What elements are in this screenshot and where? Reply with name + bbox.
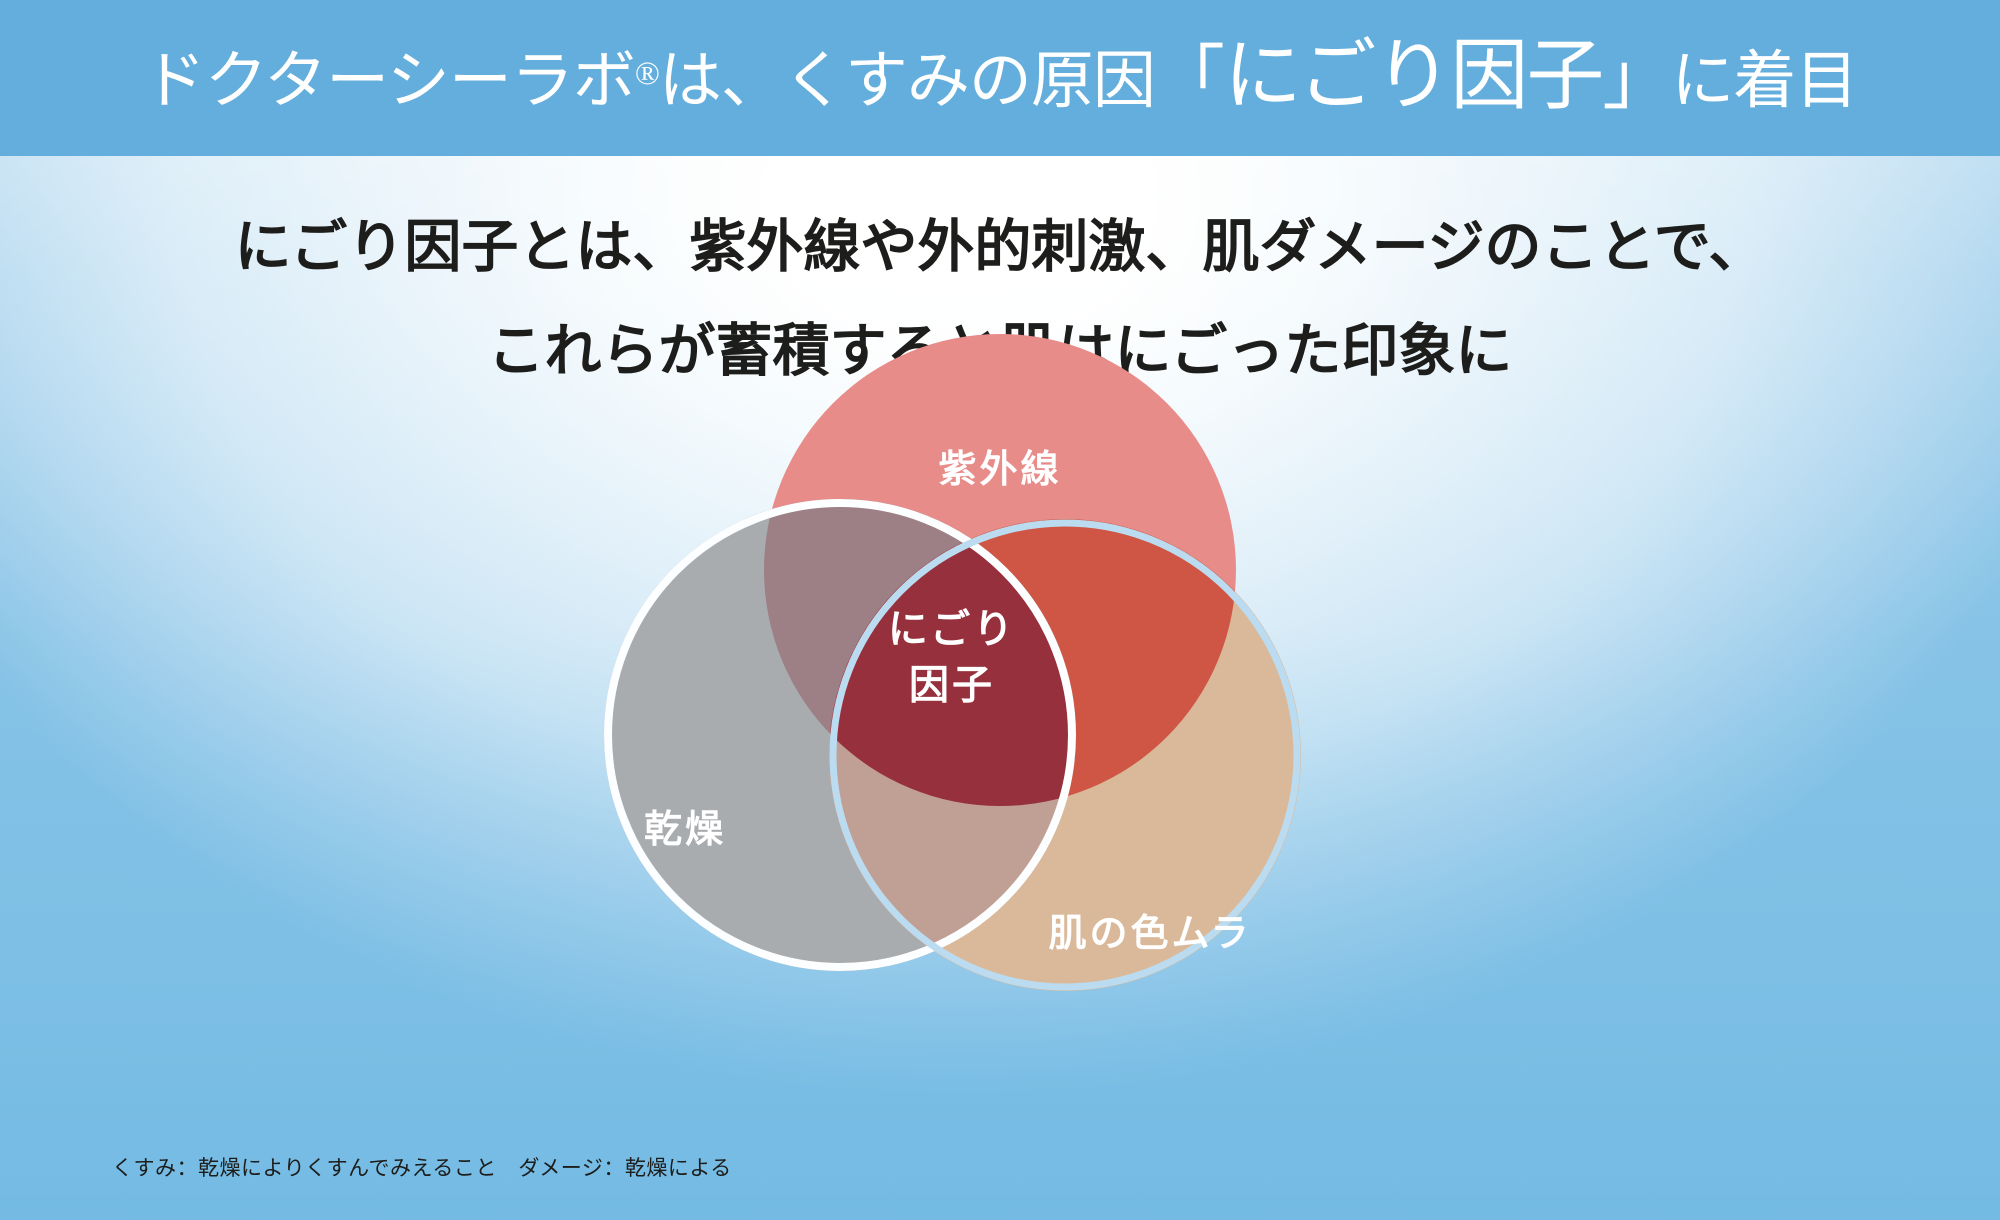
lead-line-1: にごり因子とは、紫外線や外的刺激、肌ダメージのことで、 — [0, 196, 2000, 300]
title-emphasis: にごり因子 — [1224, 32, 1602, 119]
title-suffix: に着目 — [1671, 46, 1857, 116]
venn-label-uneven: 肌の色ムラ — [1048, 913, 1251, 955]
venn-label-center-line2: 因子 — [909, 664, 995, 708]
title-brand: ドクターシーラボ — [143, 46, 635, 116]
registered-trademark-icon: ® — [635, 56, 659, 92]
venn-label-uv: 紫外線 — [938, 449, 1061, 491]
title-bracket-open: 「 — [1155, 41, 1224, 118]
title-bracket-close: 」 — [1602, 41, 1671, 118]
venn-label-dry: 乾燥 — [644, 809, 726, 851]
header-band: ドクターシーラボ®は、くすみの原因「にごり因子」に着目 — [0, 0, 2000, 156]
venn-label-center-line1: にごり — [888, 608, 1016, 652]
page-title: ドクターシーラボ®は、くすみの原因「にごり因子」に着目 — [143, 37, 1858, 119]
slide-canvas: ドクターシーラボ®は、くすみの原因「にごり因子」に着目 にごり因子とは、紫外線や… — [0, 0, 2000, 1220]
footnote: くすみ：乾燥によりくすんでみえること ダメージ：乾燥による — [112, 1152, 732, 1182]
venn-diagram: 紫外線 乾燥 肌の色ムラ にごり 因子 — [500, 360, 1520, 920]
title-middle: は、くすみの原因 — [659, 46, 1155, 116]
